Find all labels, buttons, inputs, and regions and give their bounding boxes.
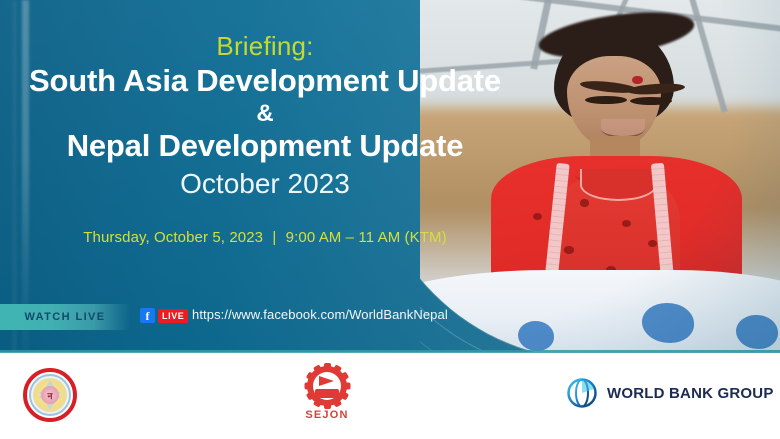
title-month: October 2023 (0, 167, 530, 201)
watch-live-label: WATCH LIVE (24, 311, 105, 323)
world-bank-group-label: WORLD BANK GROUP (607, 385, 774, 402)
facebook-icon[interactable]: f (140, 308, 155, 323)
seal-monogram: न (41, 386, 59, 404)
world-bank-group-logo: WORLD BANK GROUP (566, 377, 774, 409)
title-ampersand: & (0, 100, 530, 128)
photo-right-fill (570, 0, 780, 352)
title-line-2: Nepal Development Update (0, 127, 530, 165)
hero-divider (0, 350, 780, 353)
sejon-gear-icon (307, 366, 347, 406)
event-banner: Briefing: South Asia Development Update … (0, 0, 780, 439)
watch-live-row: WATCH LIVE f LIVE https://www.facebook.c… (0, 304, 530, 332)
schedule-separator: | (267, 229, 281, 246)
event-time: 9:00 AM – 11 AM (KTM) (286, 229, 447, 246)
event-date: Thursday, October 5, 2023 (83, 229, 263, 246)
globe-icon (566, 377, 598, 409)
title-line-1: South Asia Development Update (0, 62, 530, 100)
watch-live-band: WATCH LIVE (0, 304, 130, 330)
government-of-nepal-seal-icon: न (23, 368, 77, 422)
sejon-logo: SEJON (292, 366, 362, 424)
event-schedule: Thursday, October 5, 2023 | 9:00 AM – 11… (0, 201, 530, 247)
eyebrow-briefing: Briefing: (0, 0, 530, 62)
live-badge: LIVE (158, 309, 188, 323)
facebook-url-link[interactable]: https://www.facebook.com/WorldBankNepal (192, 307, 448, 322)
sejon-label: SEJON (292, 409, 362, 421)
headline-block: Briefing: South Asia Development Update … (0, 0, 530, 247)
facebook-live-badge[interactable]: f LIVE (140, 308, 188, 323)
hero-panel: Briefing: South Asia Development Update … (0, 0, 780, 352)
